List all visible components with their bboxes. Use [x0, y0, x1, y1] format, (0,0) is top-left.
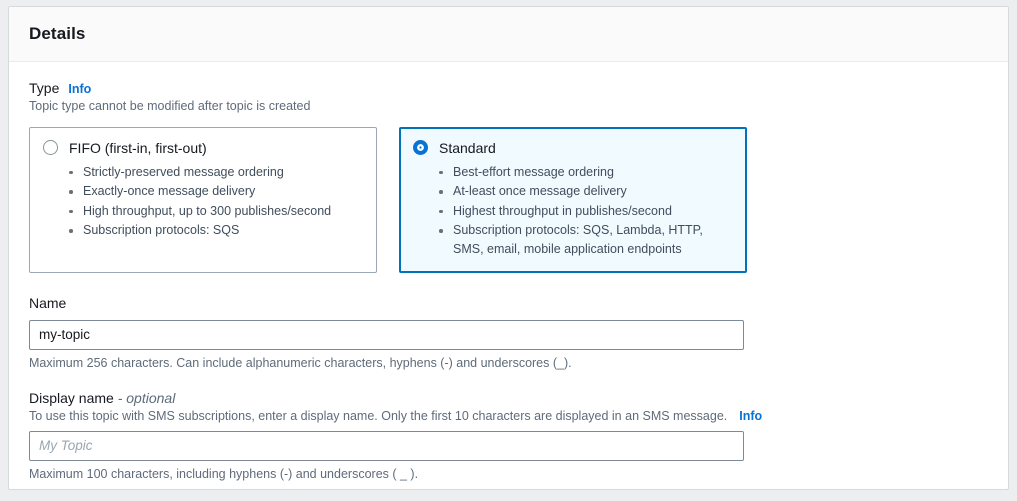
fifo-option-bullets: Strictly-preserved message ordering Exac…: [43, 163, 362, 241]
display-name-constraint-text: Maximum 100 characters, including hyphen…: [29, 467, 988, 481]
fifo-option-title: FIFO (first-in, first-out): [69, 140, 207, 156]
type-field-group: Type Info Topic type cannot be modified …: [29, 80, 988, 273]
display-name-label: Display name - optional: [29, 390, 988, 406]
fifo-option-header: FIFO (first-in, first-out): [43, 140, 362, 156]
list-item: High throughput, up to 300 publishes/sec…: [83, 202, 362, 221]
display-name-optional-text: - optional: [118, 390, 176, 406]
list-item: Highest throughput in publishes/second: [453, 202, 732, 221]
type-option-standard[interactable]: Standard Best-effort message ordering At…: [399, 127, 747, 273]
panel-header: Details: [9, 7, 1008, 62]
standard-option-header: Standard: [413, 140, 732, 156]
type-label-row: Type Info: [29, 80, 988, 96]
list-item: Exactly-once message delivery: [83, 182, 362, 201]
display-name-label-text: Display name: [29, 390, 114, 406]
name-input[interactable]: [29, 320, 744, 350]
page-title: Details: [29, 24, 85, 44]
details-panel: Details Type Info Topic type cannot be m…: [8, 6, 1009, 490]
display-name-info-link[interactable]: Info: [739, 409, 762, 423]
list-item: Subscription protocols: SQS, Lambda, HTT…: [453, 221, 732, 260]
name-field-group: Name Maximum 256 characters. Can include…: [29, 295, 988, 370]
type-info-link[interactable]: Info: [68, 82, 91, 96]
list-item: Subscription protocols: SQS: [83, 221, 362, 240]
radio-selected-icon[interactable]: [413, 140, 428, 155]
name-constraint-text: Maximum 256 characters. Can include alph…: [29, 356, 988, 370]
list-item: Best-effort message ordering: [453, 163, 732, 182]
radio-unselected-icon[interactable]: [43, 140, 58, 155]
type-description: Topic type cannot be modified after topi…: [29, 98, 988, 115]
panel-body: Type Info Topic type cannot be modified …: [9, 62, 1008, 481]
list-item: At-least once message delivery: [453, 182, 732, 201]
display-name-description-row: To use this topic with SMS subscriptions…: [29, 408, 988, 425]
display-name-field-group: Display name - optional To use this topi…: [29, 390, 988, 481]
display-name-input[interactable]: [29, 431, 744, 461]
list-item: Strictly-preserved message ordering: [83, 163, 362, 182]
display-name-description: To use this topic with SMS subscriptions…: [29, 408, 727, 425]
type-option-fifo[interactable]: FIFO (first-in, first-out) Strictly-pres…: [29, 127, 377, 273]
type-options: FIFO (first-in, first-out) Strictly-pres…: [29, 127, 988, 273]
name-label: Name: [29, 295, 988, 311]
type-label: Type: [29, 80, 59, 96]
standard-option-title: Standard: [439, 140, 496, 156]
standard-option-bullets: Best-effort message ordering At-least on…: [413, 163, 732, 260]
